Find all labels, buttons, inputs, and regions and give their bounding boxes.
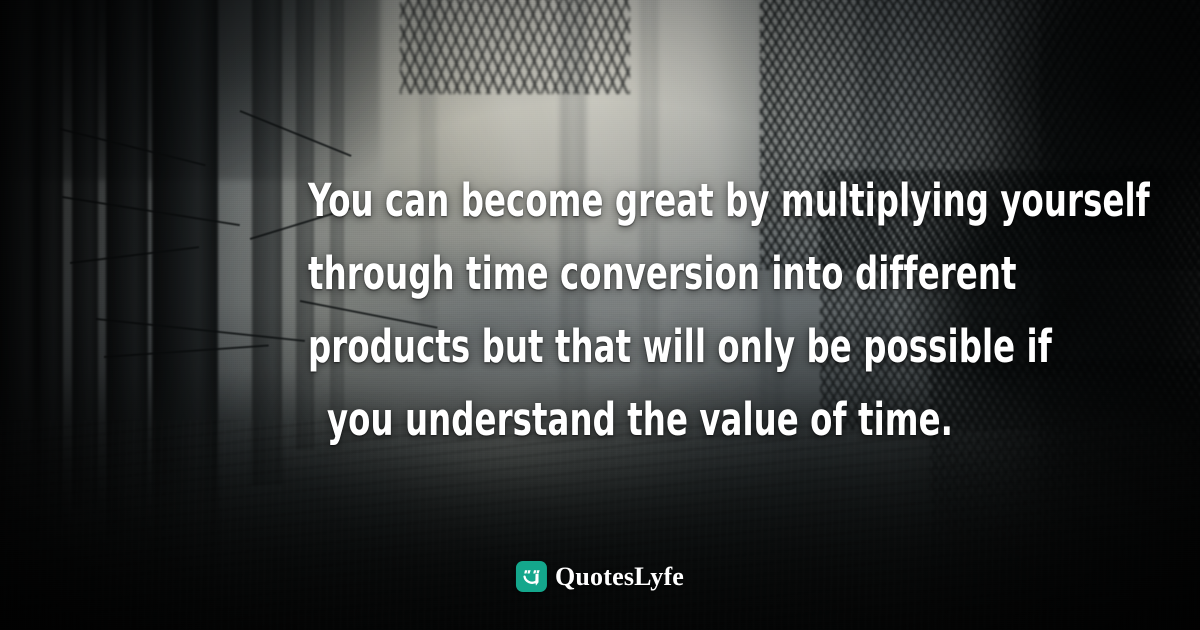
card-content: You can become great by multiplying your… [0, 0, 1200, 630]
quoteslyfe-logo[interactable]: QuotesLyfe [516, 561, 684, 592]
quote-text: You can become great by multiplying your… [225, 164, 1055, 456]
quote-card: You can become great by multiplying your… [0, 0, 1200, 630]
quote-line-2: through time conversion into different [308, 237, 972, 310]
quote-line-1: You can become great by multiplying your… [308, 164, 972, 237]
quote-smiley-icon [516, 561, 547, 592]
quote-line-4: you understand the value of time. [308, 383, 972, 456]
brand-name: QuotesLyfe [555, 564, 684, 590]
quote-line-3: products but that will only be possible … [308, 310, 972, 383]
